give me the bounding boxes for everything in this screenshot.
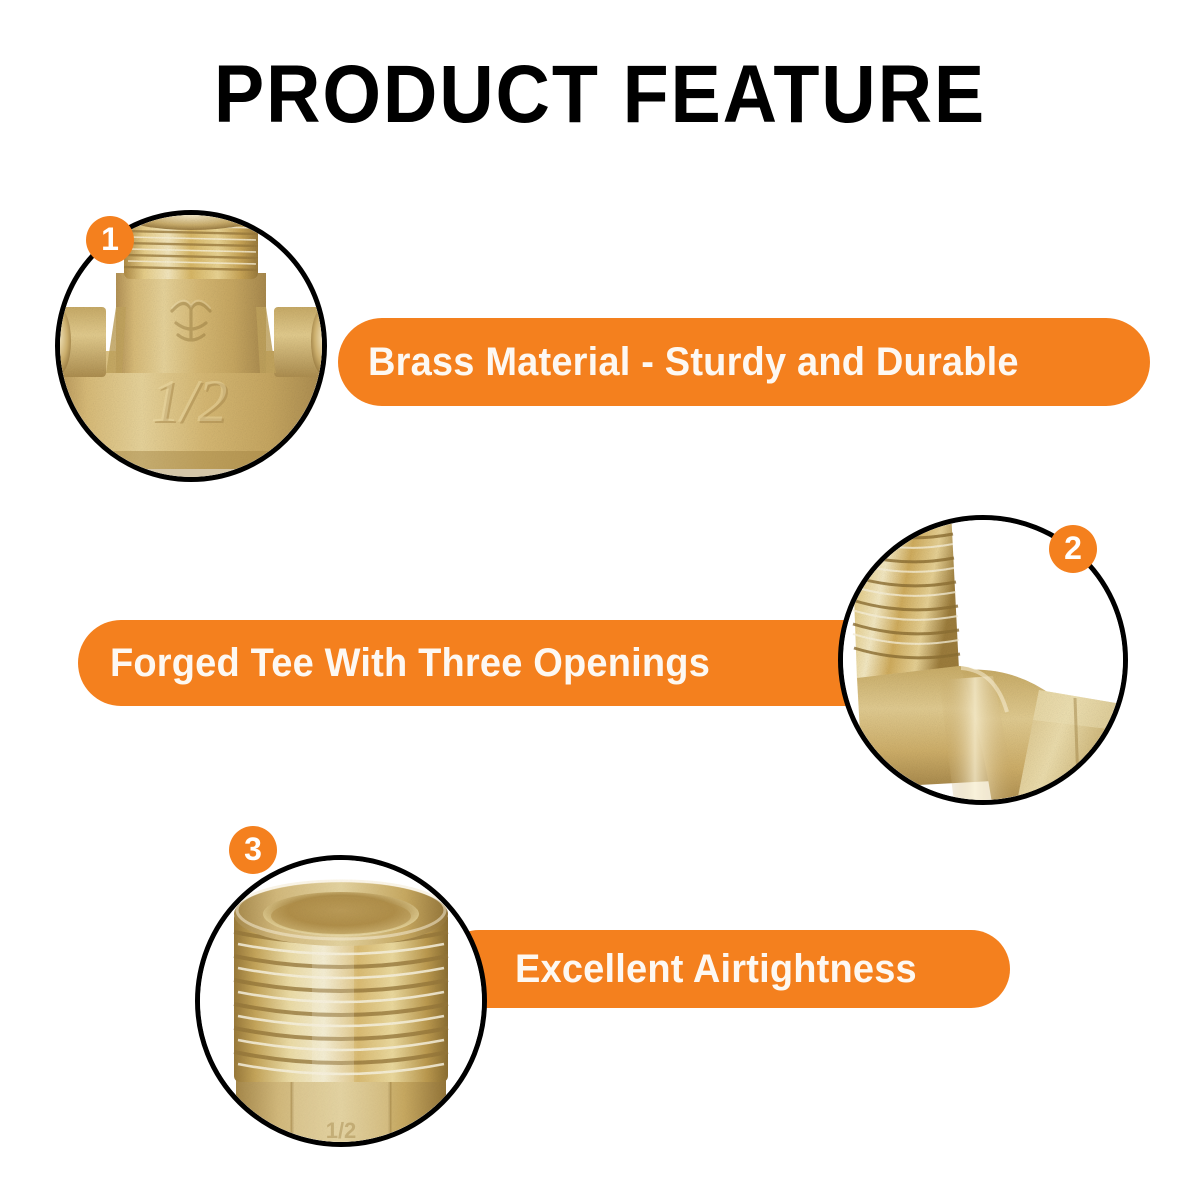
feature-badge-number-1: 1 — [101, 223, 119, 255]
feature-label-3: Excellent Airtightness — [440, 930, 1010, 1008]
feature-label-text-3: Excellent Airtightness — [515, 947, 917, 992]
svg-text:1/2: 1/2 — [151, 368, 228, 434]
feature-label-2: Forged Tee With Three Openings — [78, 620, 958, 706]
feature-badge-3: 3 — [229, 826, 277, 874]
feature-label-text-1: Brass Material - Sturdy and Durable — [368, 340, 1019, 385]
page-title: PRODUCT FEATURE — [48, 52, 1152, 138]
feature-label-text-2: Forged Tee With Three Openings — [110, 641, 710, 686]
brass-nipple-image: 1/2 — [200, 860, 482, 1142]
infographic-canvas: PRODUCT FEATURE Brass Material - Sturdy … — [0, 0, 1200, 1200]
stamped-marking: 1/2 — [326, 1118, 357, 1142]
brass-nipple-illustration: 1/2 — [200, 860, 482, 1142]
feature-badge-number-3: 3 — [244, 833, 262, 865]
feature-label-1: Brass Material - Sturdy and Durable — [338, 318, 1150, 406]
embossed-size-marking: 1/2 1/2 — [151, 368, 230, 436]
feature-photo-3: 1/2 — [195, 855, 487, 1147]
feature-badge-number-2: 2 — [1064, 532, 1082, 564]
feature-badge-2: 2 — [1049, 525, 1097, 573]
feature-badge-1: 1 — [86, 216, 134, 264]
